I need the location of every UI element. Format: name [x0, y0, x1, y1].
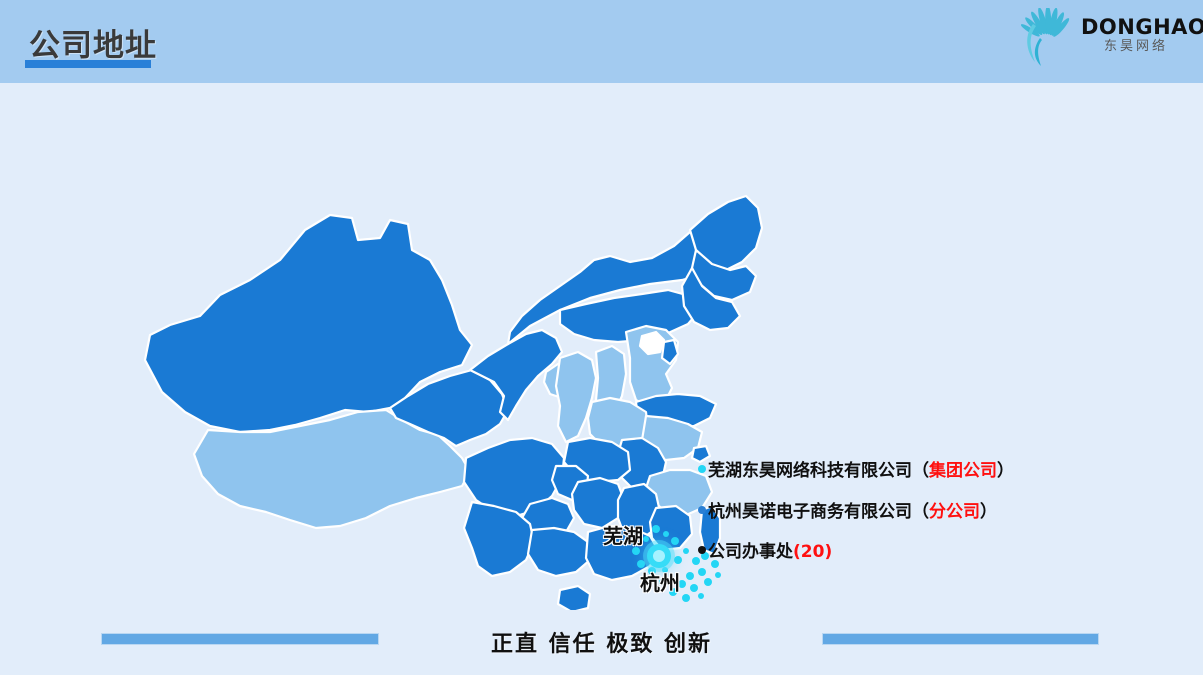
wuhu-headquarters-marker[interactable] [647, 544, 671, 568]
legend-item-offices[interactable]: 公司办事处(20) [698, 543, 1118, 562]
legend-label: 公司办事处 [708, 542, 793, 562]
logo-subtitle: 东昊网络 [1081, 40, 1191, 54]
donghao-fan-logo-icon [1019, 8, 1083, 72]
office-dot[interactable] [674, 556, 682, 564]
legend-open-paren: （ [912, 502, 929, 522]
legend-close-paren: ） [980, 502, 997, 522]
company-logo: DONGHAO 东昊网络 [1019, 6, 1191, 76]
office-dot[interactable] [643, 536, 649, 542]
office-dot[interactable] [690, 584, 698, 592]
footer-bar-right [822, 633, 1099, 645]
legend-tag: 20 [801, 542, 825, 562]
legend-open-paren: ( [793, 542, 801, 562]
office-dot[interactable] [663, 531, 669, 537]
city-label-wuhu: 芜湖 [603, 520, 643, 549]
title-underline [25, 60, 151, 68]
office-dot[interactable] [652, 525, 660, 533]
legend-label: 杭州昊诺电子商务有限公司 [708, 502, 912, 522]
office-dot[interactable] [682, 594, 690, 602]
legend-label: 芜湖东昊网络科技有限公司 [708, 461, 912, 481]
city-label-hangzhou: 杭州 [640, 567, 680, 596]
china-map-container: 芜湖 杭州 [90, 120, 770, 610]
legend-bullet-icon [698, 546, 706, 554]
office-dot[interactable] [683, 548, 689, 554]
legend-item-headquarters[interactable]: 芜湖东昊网络科技有限公司（集团公司） [698, 462, 1118, 481]
legend-item-branch[interactable]: 杭州昊诺电子商务有限公司（分公司） [698, 503, 1118, 522]
page-header: 公司地址 DONGHAO 东昊网络 [0, 0, 1203, 83]
logo-name: DONGHAO [1081, 16, 1191, 38]
office-dot[interactable] [698, 593, 704, 599]
legend-tag: 分公司 [929, 502, 980, 522]
legend-close-paren: ） [997, 461, 1014, 481]
legend-open-paren: （ [912, 461, 929, 481]
page-title: 公司地址 [29, 20, 157, 65]
legend-bullet-icon [698, 465, 706, 473]
office-dot[interactable] [671, 537, 679, 545]
legend-close-paren: ) [824, 542, 832, 562]
office-dot[interactable] [686, 572, 694, 580]
legend-tag: 集团公司 [929, 461, 997, 481]
legend-bullet-icon [698, 506, 706, 514]
logo-text: DONGHAO 东昊网络 [1081, 16, 1191, 54]
map-legend: 芜湖东昊网络科技有限公司（集团公司） 杭州昊诺电子商务有限公司（分公司） 公司办… [698, 462, 1118, 584]
china-provinces-map [90, 120, 770, 610]
